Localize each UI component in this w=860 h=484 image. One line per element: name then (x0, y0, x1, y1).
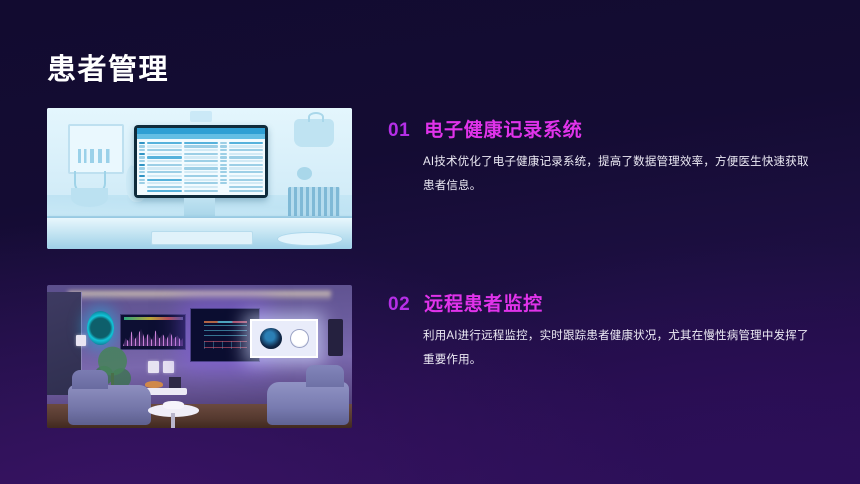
content-item-2: 02 远程患者监控 利用AI进行远程监控，实时跟踪患者健康状况，尤其在慢性病管理… (388, 295, 820, 372)
item-1-number: 01 (388, 121, 410, 140)
ehr-column-list (184, 141, 219, 194)
sofa-left (68, 385, 150, 425)
wall-medical-bag (294, 119, 334, 147)
monitor-stand (184, 198, 215, 218)
item-1-title: 电子健康记录系统 (424, 121, 582, 140)
wall-switch-left (76, 335, 86, 346)
vase (169, 377, 181, 388)
fruit-bowl (145, 381, 163, 388)
dashboard-header-bar (204, 321, 248, 323)
wall-basin (71, 188, 108, 206)
dashboard-metrics-panel (204, 325, 248, 340)
gauge-dark-icon (260, 328, 282, 349)
gauge-light-icon (290, 329, 309, 348)
neon-ring-art (87, 311, 114, 345)
item-2-header: 02 远程患者监控 (388, 295, 820, 314)
ehr-column-side (229, 141, 264, 194)
sofa-right (267, 382, 349, 425)
wall-control-panel (328, 319, 343, 356)
item-1-header: 01 电子健康记录系统 (388, 121, 820, 140)
slide-root: 患者管理 (0, 0, 860, 484)
wall-switch-center-1 (148, 361, 159, 373)
wall-camera-icon (190, 111, 211, 122)
page-title: 患者管理 (47, 53, 169, 88)
keyboard (151, 231, 254, 246)
radiator (288, 187, 340, 218)
ehr-column-values (220, 141, 226, 194)
item-2-title: 远程患者监控 (424, 295, 543, 314)
ehr-column-nav (139, 141, 145, 194)
wall-chart-board (68, 124, 124, 175)
waveform-legend-bar (124, 317, 183, 320)
cups-on-table (163, 401, 184, 410)
monitor-screen (137, 128, 265, 195)
item-2-description: 利用AI进行远程监控，实时跟踪患者健康状况，尤其在慢性病管理中发挥了重要作用。 (423, 325, 819, 372)
clinic-scene (47, 108, 352, 249)
ceiling-light-strip (68, 291, 330, 301)
item-1-description: AI技术优化了电子健康记录系统，提高了数据管理效率，方便医生快速获取患者信息。 (423, 151, 819, 198)
wall-lightbox-gauges (250, 319, 318, 357)
ehr-record-columns (137, 139, 265, 196)
weighing-scale (277, 232, 343, 247)
image-ehr-workstation (47, 108, 352, 249)
item-2-number: 02 (388, 295, 410, 314)
dashboard-alerts-panel (204, 341, 248, 349)
image-remote-monitoring-room (47, 285, 352, 428)
wall-switch-center-2 (163, 361, 174, 373)
ehr-column-detail (147, 141, 182, 194)
desktop-monitor (134, 125, 268, 198)
content-item-1: 01 电子健康记录系统 AI技术优化了电子健康记录系统，提高了数据管理效率，方便… (388, 121, 820, 198)
living-room-scene (47, 285, 352, 428)
